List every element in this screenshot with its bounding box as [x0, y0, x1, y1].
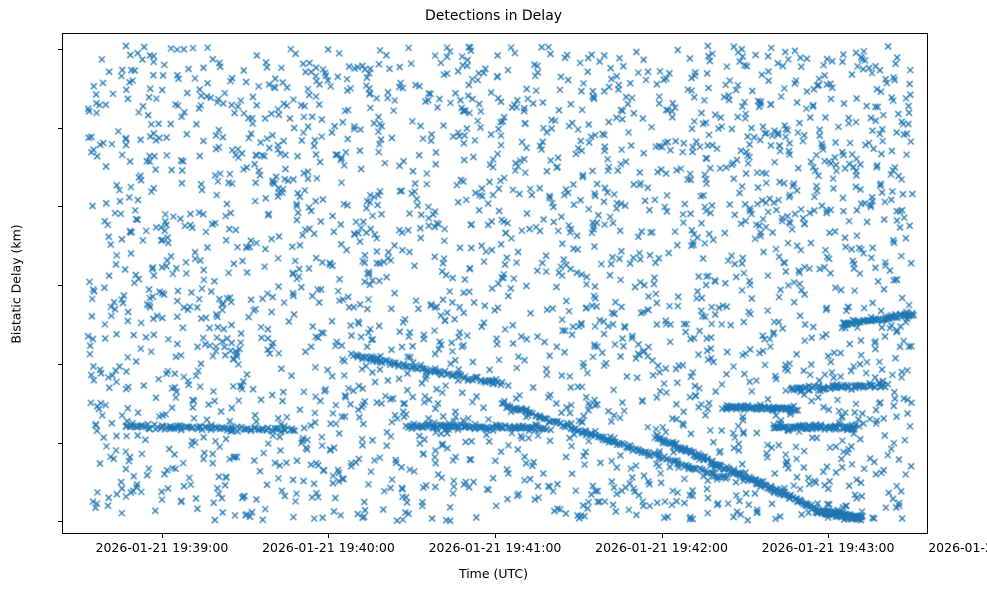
x-axis-label: Time (UTC) — [0, 566, 987, 581]
x-axis-tick-label: 2026-01-21 19:40:00 — [248, 541, 408, 554]
x-axis-tick-label: 2026-01-21 19:44:00 — [915, 541, 987, 554]
x-axis-tick-mark — [162, 534, 163, 538]
x-axis-tick-mark — [495, 534, 496, 538]
page-title: Detections in Delay — [0, 8, 987, 24]
x-axis-tick-mark — [328, 534, 329, 538]
y-axis-tick-mark — [58, 49, 62, 50]
x-axis-tick-label: 2026-01-21 19:39:00 — [82, 541, 242, 554]
scatter-canvas — [63, 34, 928, 534]
y-axis-tick-mark — [58, 443, 62, 444]
y-axis-label: Bistatic Delay (km) — [9, 34, 27, 535]
x-axis-tick-mark — [662, 534, 663, 538]
y-axis-tick-mark — [58, 364, 62, 365]
x-axis-tick-label: 2026-01-21 19:41:00 — [415, 541, 575, 554]
y-axis-tick-mark — [58, 128, 62, 129]
x-axis-tick-label: 2026-01-21 19:42:00 — [582, 541, 742, 554]
plot-area — [62, 33, 928, 534]
x-axis-tick-label: 2026-01-21 19:43:00 — [748, 541, 908, 554]
y-axis-tick-mark — [58, 285, 62, 286]
figure: Detections in Delay 0102030405060 2026-0… — [0, 0, 987, 590]
y-axis-tick-mark — [58, 521, 62, 522]
y-axis-tick-mark — [58, 206, 62, 207]
x-axis-tick-mark — [828, 534, 829, 538]
